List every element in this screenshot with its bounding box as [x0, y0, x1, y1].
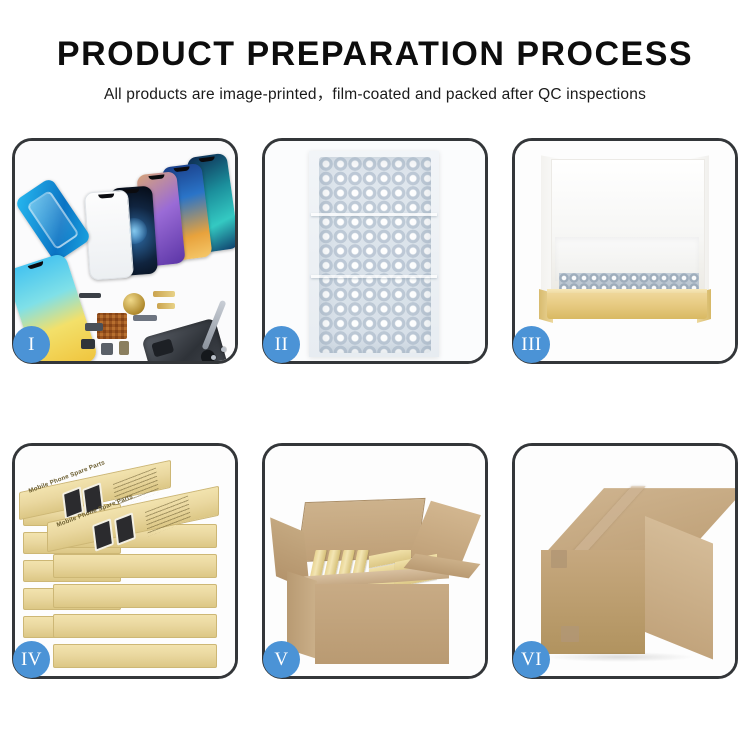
wrap-seam-1 [311, 213, 437, 216]
step-image-6 [515, 446, 735, 676]
speaker-part [119, 341, 129, 355]
vibration-motor-part [123, 293, 145, 315]
tape-tab-lower [561, 626, 579, 642]
carton-right-face [645, 516, 713, 659]
stacked-box-f3 [53, 584, 217, 608]
earpiece-part [79, 293, 101, 298]
step-panel-5: V [262, 443, 488, 679]
carton-shadow [545, 652, 695, 662]
page-subtitle: All products are image-printed，film-coat… [0, 82, 750, 104]
bubble-wrap-texture [319, 157, 431, 353]
step-panel-6: VI [512, 443, 738, 679]
page-title: PRODUCT PREPARATION PROCESS [0, 36, 750, 73]
process-steps-grid: I II II [12, 138, 738, 679]
step-badge-2: II [263, 326, 300, 363]
step-badge-1: I [13, 326, 50, 363]
stacked-box-f4 [53, 614, 217, 638]
phone-screen-white [84, 190, 134, 281]
antenna-part [133, 315, 157, 321]
wrap-seam-2 [311, 275, 437, 278]
step-badge-5: V [263, 641, 300, 678]
tape-tab-upper [551, 550, 567, 568]
camera-module-part [101, 343, 113, 355]
stacked-box-f2 [53, 554, 217, 578]
box-front-panel [547, 293, 707, 319]
connector-part-2 [81, 339, 95, 349]
box-stack: Mobile Phone Spare Parts Mobile Phone Sp… [15, 446, 235, 676]
carton-filling-photo [265, 446, 485, 676]
step-panel-2: II [262, 138, 488, 364]
step-panel-3: III [512, 138, 738, 364]
adhesive-frame [15, 177, 92, 263]
sealed-carton-photo [515, 446, 735, 676]
stacked-boxes-photo: Mobile Phone Spare Parts Mobile Phone Sp… [15, 446, 235, 676]
bubble-wrap-photo [265, 141, 485, 361]
step-image-4: Mobile Phone Spare Parts Mobile Phone Sp… [15, 446, 235, 676]
step-image-1 [15, 141, 235, 361]
header: PRODUCT PREPARATION PROCESS All products… [0, 0, 750, 104]
step-badge-6: VI [513, 641, 550, 678]
step-image-5 [265, 446, 485, 676]
screw-part-1 [211, 355, 216, 360]
inner-box-photo [515, 141, 735, 361]
step-image-2 [265, 141, 485, 361]
step-badge-3: III [513, 326, 550, 363]
step-panel-1: I [12, 138, 238, 364]
step-image-3 [515, 141, 735, 361]
step-panel-4: Mobile Phone Spare Parts Mobile Phone Sp… [12, 443, 238, 679]
flex-cable-part-1 [153, 291, 175, 297]
stacked-box-f5 [53, 644, 217, 668]
flex-cable-part-2 [157, 303, 175, 309]
screw-part-2 [221, 347, 226, 352]
step-badge-4: IV [13, 641, 50, 678]
connector-part-1 [85, 323, 103, 331]
phone-parts-photo [15, 141, 235, 361]
carton-front [315, 584, 449, 664]
